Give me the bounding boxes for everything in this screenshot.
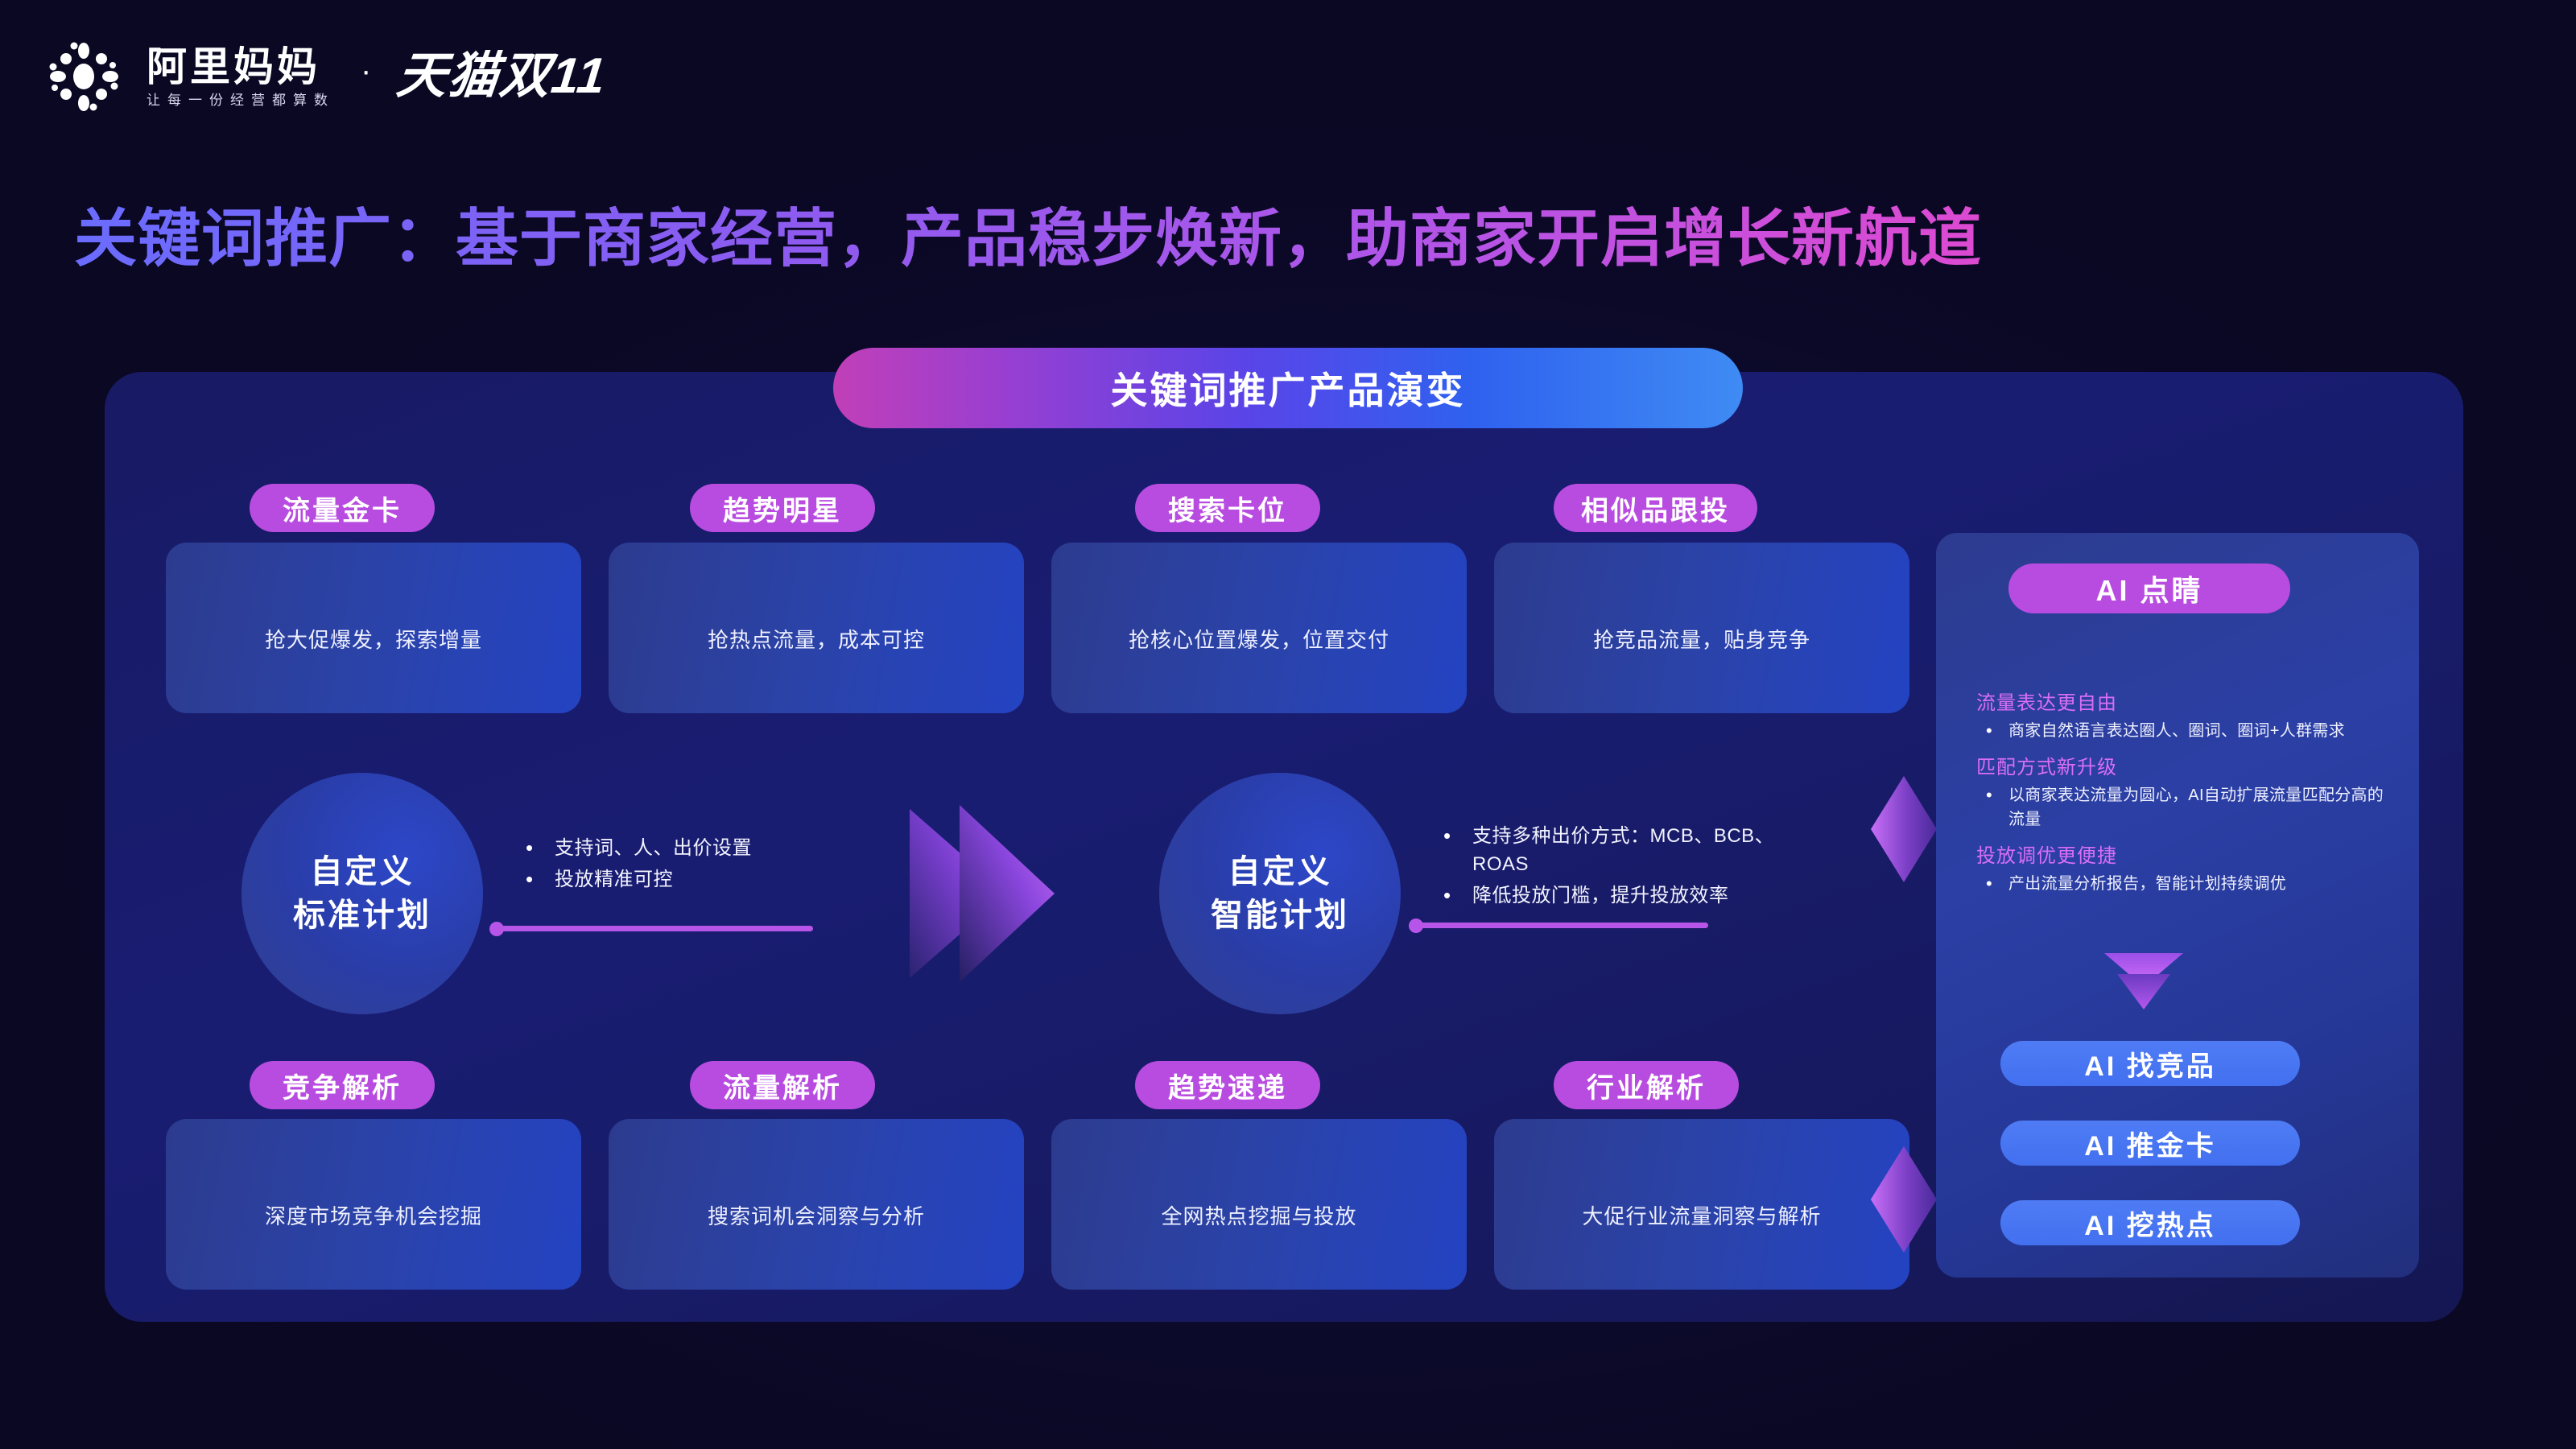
top-card-0[interactable]: 抢大促爆发，探索增量 [166, 543, 581, 713]
bottom-card-1-title: 流量解析 [723, 1066, 842, 1105]
flow-circle-smart-line1: 自定义 [1228, 856, 1332, 888]
top-card-2-title: 搜索卡位 [1168, 489, 1287, 528]
top-card-0-title: 流量金卡 [283, 489, 402, 528]
bottom-card-3-desc: 大促行业流量洞察与解析 [1561, 1200, 1842, 1230]
top-card-3[interactable]: 抢竞品流量，贴身竞争 [1494, 543, 1909, 713]
top-card-0-pill[interactable]: 流量金卡 [250, 484, 435, 532]
brand-text: 阿里妈妈 让每一份经营都算数 [147, 47, 335, 107]
chevron-down-icon [2099, 952, 2188, 1014]
flow-left-bullets: 支持词、人、出价设置 投放精准可控 [519, 835, 865, 898]
bottom-card-3-pill[interactable]: 行业解析 [1554, 1061, 1739, 1109]
ai-panel-title-pill[interactable]: AI 点睛 [2008, 563, 2290, 613]
ai-button-1-label: AI 推金卡 [2084, 1124, 2215, 1163]
ai-panel-title: AI 点睛 [2095, 568, 2202, 609]
ai-panel-body: 流量表达更自由 商家自然语言表达圈人、圈词、圈词+人群需求 匹配方式新升级 以商… [1976, 679, 2395, 898]
top-card-2-desc: 抢核心位置爆发，位置交付 [1108, 624, 1410, 654]
flow-circle-standard-line2: 标准计划 [293, 899, 431, 931]
flow-right-bullet-0: 支持多种出价方式：MCB、BCB、ROAS [1437, 823, 1815, 879]
bottom-card-2-desc: 全网热点挖掘与投放 [1140, 1200, 1377, 1230]
brand-header: 阿里妈妈 让每一份经营都算数 · 天猫双11 [42, 32, 607, 121]
top-card-2[interactable]: 抢核心位置爆发，位置交付 [1051, 543, 1467, 713]
top-card-0-desc: 抢大促爆发，探索增量 [244, 624, 503, 654]
brand-name: 阿里妈妈 [147, 47, 335, 87]
ai-section-2-bullet-0: 产出流量分析报告，智能计划持续调优 [1976, 872, 2395, 896]
flow-left-connector-line [499, 926, 813, 931]
double-chevron-right-icon [902, 781, 1143, 1006]
bottom-card-2-title: 趋势速递 [1168, 1066, 1287, 1105]
bottom-card-0-desc: 深度市场竞争机会挖掘 [244, 1200, 503, 1230]
flow-right-bullets: 支持多种出价方式：MCB、BCB、ROAS 降低投放门槛，提升投放效率 [1437, 823, 1815, 913]
top-card-3-desc: 抢竞品流量，贴身竞争 [1572, 624, 1831, 654]
flow-circle-standard-line1: 自定义 [311, 856, 415, 888]
bottom-card-0-title: 竞争解析 [283, 1066, 402, 1105]
flow-circle-smart-line2: 智能计划 [1211, 899, 1349, 931]
flow-circle-standard-plan[interactable]: 自定义 标准计划 [242, 773, 483, 1014]
ai-button-mine-hotspot[interactable]: AI 挖热点 [2000, 1200, 2300, 1245]
ai-button-find-competitor[interactable]: AI 找竞品 [2000, 1041, 2300, 1086]
campaign-name: 天猫双11 [394, 52, 609, 101]
section-banner-label: 关键词推广产品演变 [1111, 361, 1466, 415]
diamond-accent-icon-bottom [1869, 1143, 1938, 1256]
bottom-card-0[interactable]: 深度市场竞争机会挖掘 [166, 1119, 581, 1290]
brand-separator: · [356, 55, 376, 98]
flow-left-connector-dot [489, 922, 504, 936]
ai-button-push-gold-card[interactable]: AI 推金卡 [2000, 1121, 2300, 1166]
bottom-card-0-pill[interactable]: 竞争解析 [250, 1061, 435, 1109]
top-card-1-title: 趋势明星 [723, 489, 842, 528]
bottom-card-2-pill[interactable]: 趋势速递 [1135, 1061, 1320, 1109]
flow-left-bullet-1: 投放精准可控 [519, 866, 865, 894]
top-card-2-pill[interactable]: 搜索卡位 [1135, 484, 1320, 532]
ai-button-2-label: AI 挖热点 [2084, 1203, 2215, 1243]
flow-right-bullet-1: 降低投放门槛，提升投放效率 [1437, 882, 1815, 910]
brand-tagline: 让每一份经营都算数 [147, 93, 335, 107]
section-banner: 关键词推广产品演变 [833, 348, 1743, 428]
top-card-1-desc: 抢热点流量，成本可控 [687, 624, 946, 654]
flow-right-connector-line [1418, 923, 1708, 928]
top-card-3-title: 相似品跟投 [1581, 489, 1730, 528]
slide-canvas: 阿里妈妈 让每一份经营都算数 · 天猫双11 关键词推广：基于商家经营，产品稳步… [0, 0, 2576, 1449]
bottom-card-1-desc: 搜索词机会洞察与分析 [687, 1200, 946, 1230]
ai-section-0-bullet-0: 商家自然语言表达圈人、圈词、圈词+人群需求 [1976, 719, 2395, 743]
top-card-3-pill[interactable]: 相似品跟投 [1554, 484, 1757, 532]
bottom-card-1-pill[interactable]: 流量解析 [690, 1061, 875, 1109]
ai-section-1-bullet-0: 以商家表达流量为圆心，AI自动扩展流量匹配分高的流量 [1976, 783, 2395, 832]
bottom-card-1[interactable]: 搜索词机会洞察与分析 [609, 1119, 1024, 1290]
ai-section-0-heading: 流量表达更自由 [1976, 687, 2395, 715]
ai-section-2-heading: 投放调优更便捷 [1976, 840, 2395, 868]
top-card-1-pill[interactable]: 趋势明星 [690, 484, 875, 532]
alimama-dots-logo-icon [42, 35, 126, 118]
flow-right-connector-dot [1409, 919, 1423, 933]
flow-left-bullet-0: 支持词、人、出价设置 [519, 835, 865, 863]
ai-panel [1936, 533, 2419, 1278]
bottom-card-3[interactable]: 大促行业流量洞察与解析 [1494, 1119, 1909, 1290]
ai-button-0-label: AI 找竞品 [2084, 1044, 2215, 1084]
ai-section-1-heading: 匹配方式新升级 [1976, 751, 2395, 779]
page-title: 关键词推广：基于商家经营，产品稳步焕新，助商家开启增长新航道 [74, 203, 2505, 275]
top-card-1[interactable]: 抢热点流量，成本可控 [609, 543, 1024, 713]
bottom-card-2[interactable]: 全网热点挖掘与投放 [1051, 1119, 1467, 1290]
bottom-card-3-title: 行业解析 [1587, 1066, 1706, 1105]
diamond-accent-icon-top [1869, 773, 1938, 885]
flow-circle-smart-plan[interactable]: 自定义 智能计划 [1159, 773, 1401, 1014]
